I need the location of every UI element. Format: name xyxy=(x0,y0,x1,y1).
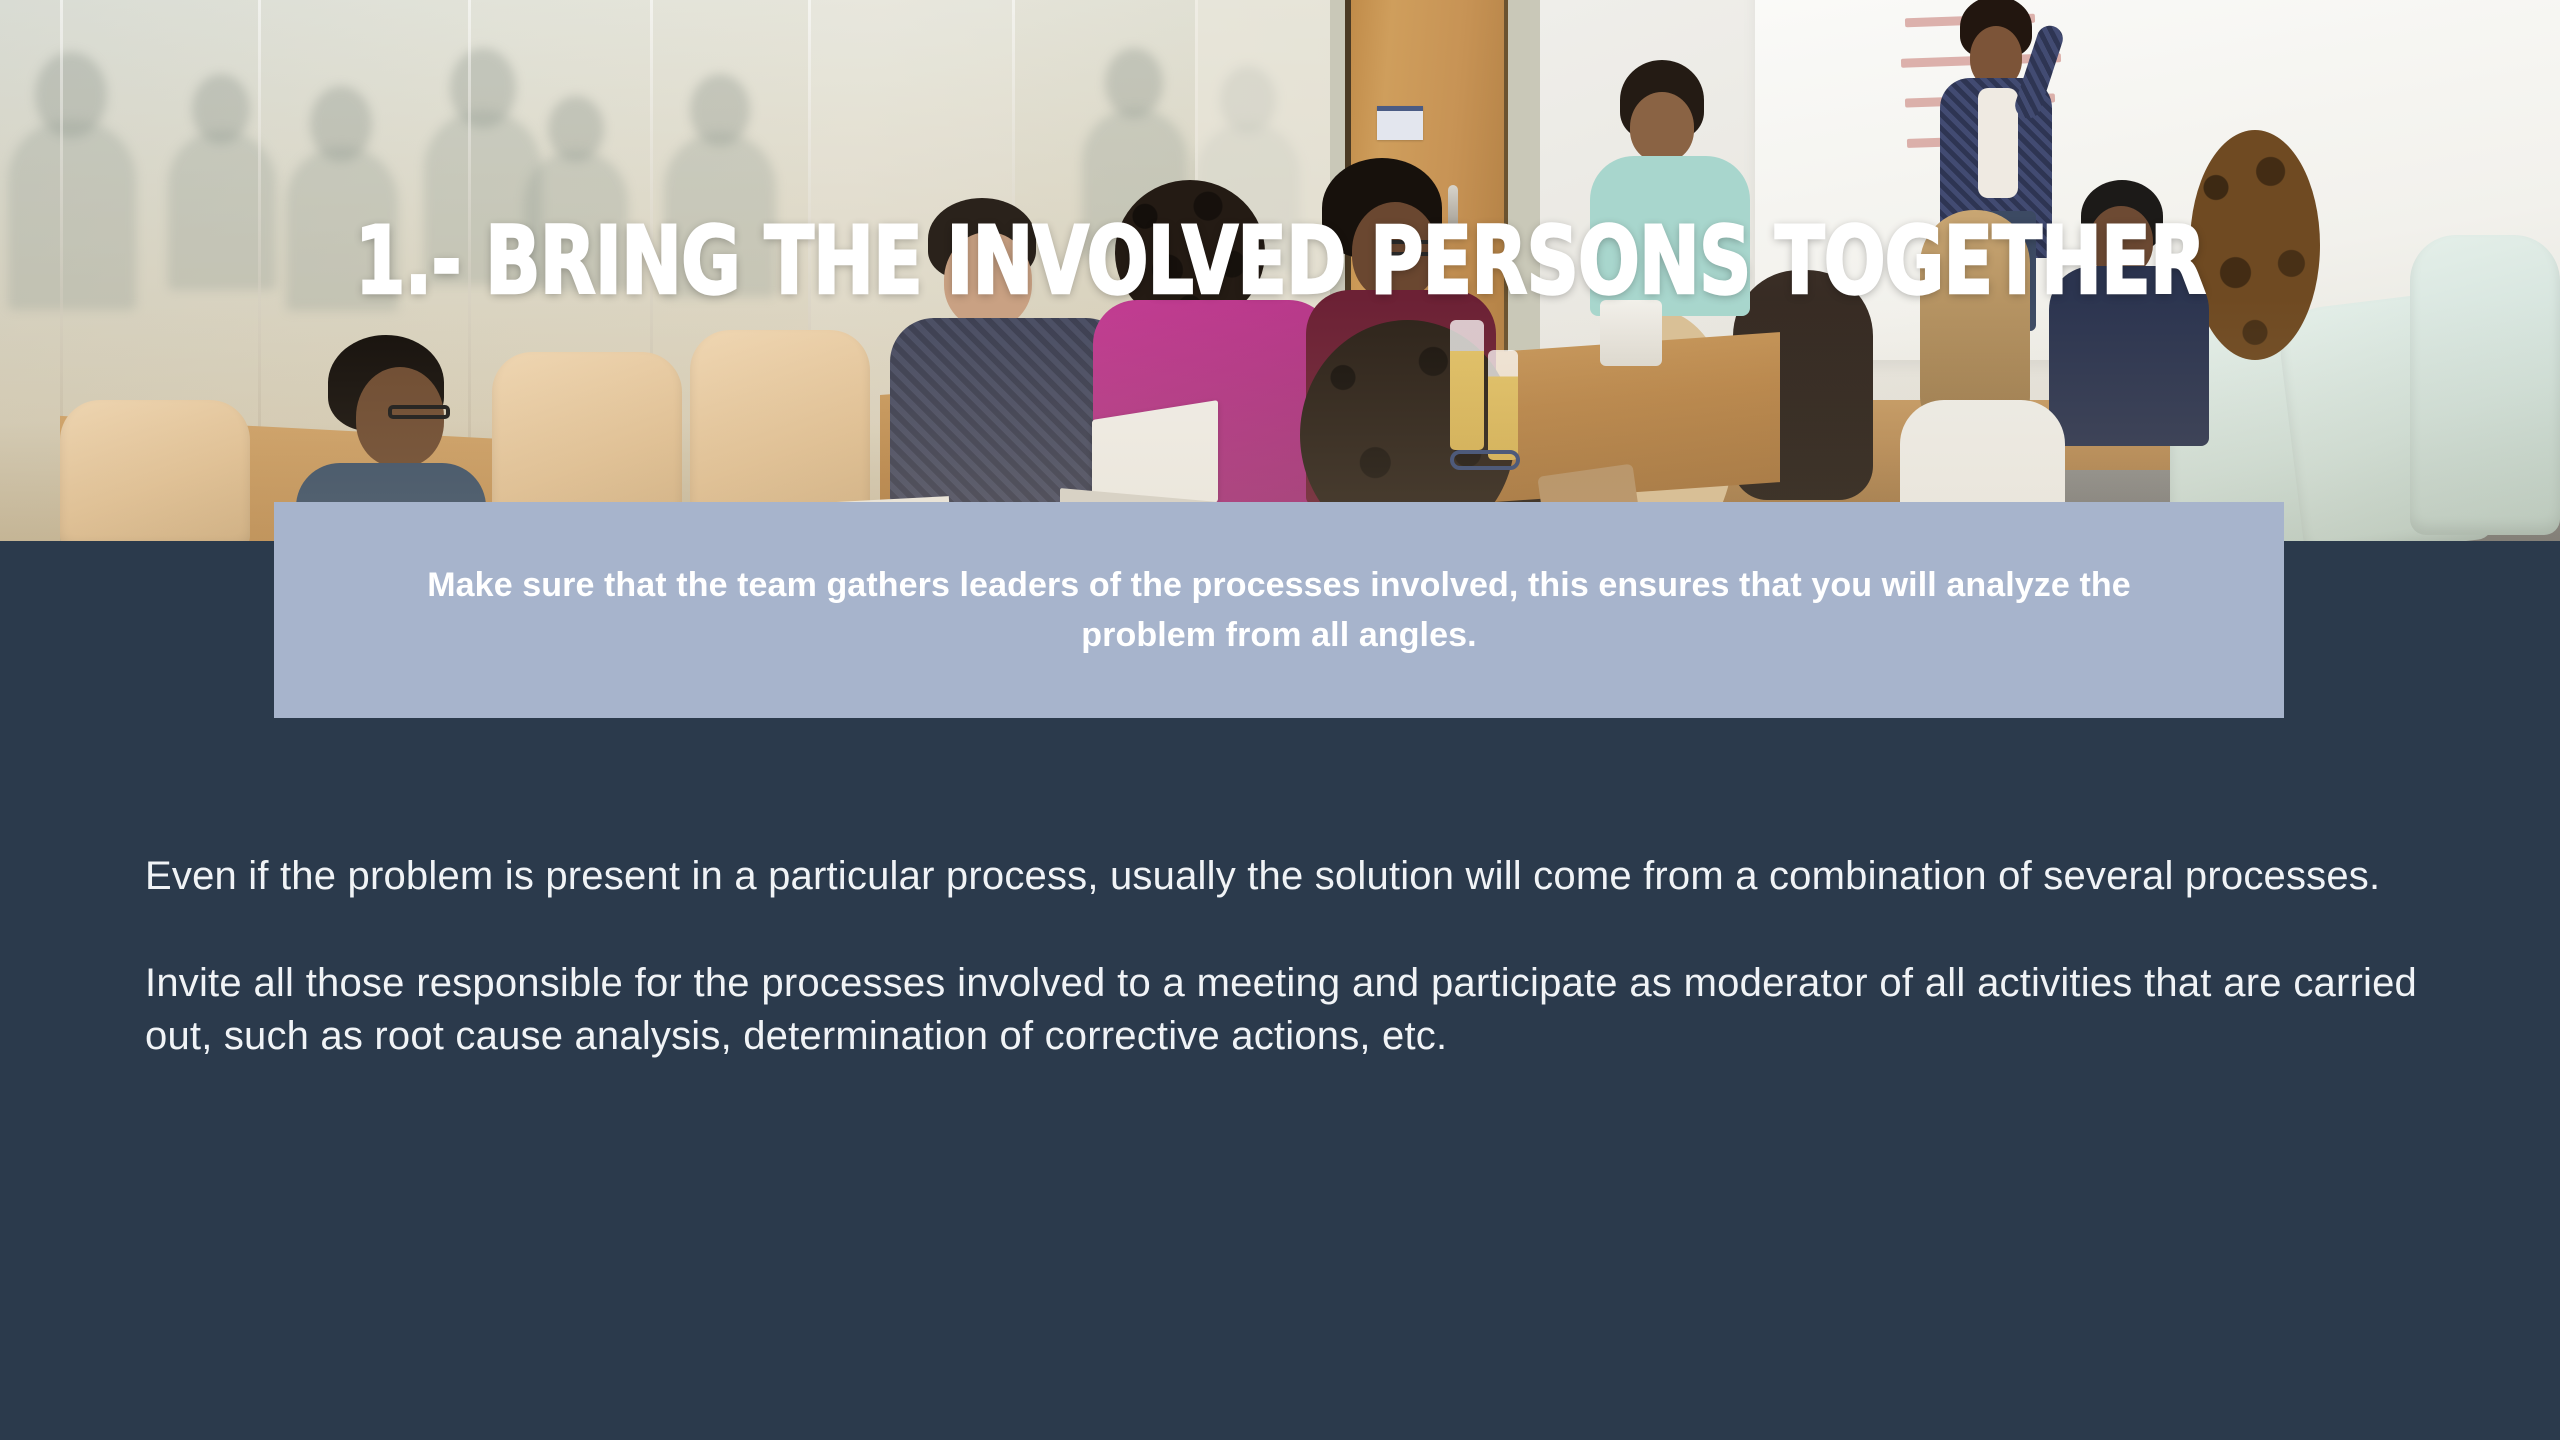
silhouette xyxy=(8,120,136,310)
office-chair xyxy=(2410,235,2560,535)
door-sign xyxy=(1377,106,1423,140)
body-copy: Even if the problem is present in a part… xyxy=(145,850,2417,1063)
page-title: 1.- BRING THE INVOLVED PERSONS TOGETHER xyxy=(179,214,2381,310)
hero-photo: 1.- BRING THE INVOLVED PERSONS TOGETHER xyxy=(0,0,2560,541)
water-bottle xyxy=(1488,350,1518,460)
callout-box: Make sure that the team gathers leaders … xyxy=(274,502,2284,718)
paragraph-spacer xyxy=(145,903,2417,957)
office-chair xyxy=(60,400,250,541)
water-bottle xyxy=(1450,320,1484,450)
callout-text: Make sure that the team gathers leaders … xyxy=(358,560,2200,660)
eyeglasses xyxy=(388,405,450,419)
paragraph-2: Invite all those responsible for the pro… xyxy=(145,957,2417,1063)
presenter-top xyxy=(1978,88,2018,198)
paragraph-1: Even if the problem is present in a part… xyxy=(145,850,2417,903)
eyeglasses xyxy=(1450,450,1520,470)
attendee-head xyxy=(1630,92,1694,162)
slide: 1.- BRING THE INVOLVED PERSONS TOGETHER … xyxy=(0,0,2560,1440)
